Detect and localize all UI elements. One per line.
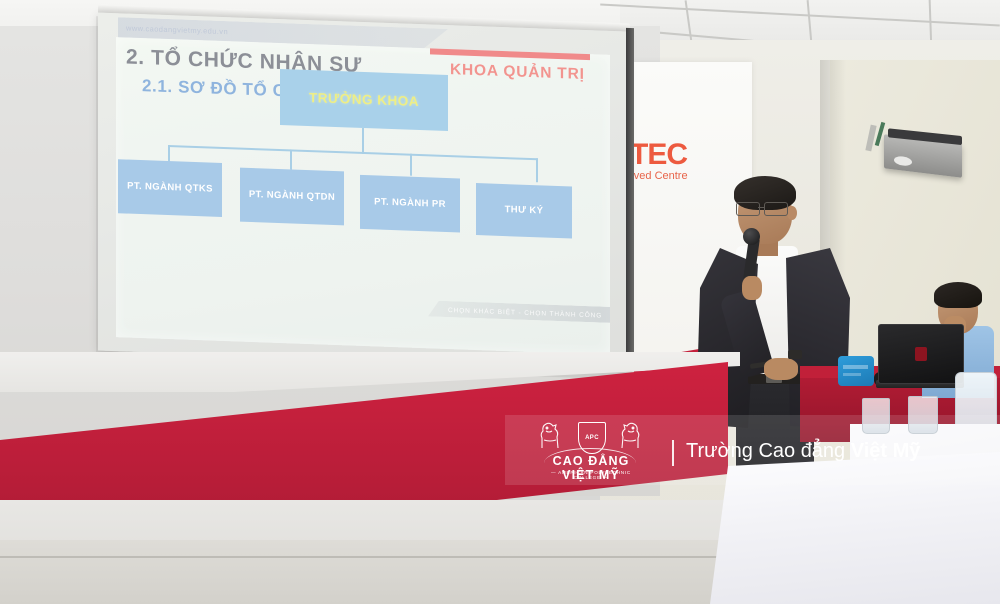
photo-scene: TEC roved Centre www.caodangvietmy.edu.v…: [0, 0, 1000, 604]
org-node-child: PT. NGÀNH QTKS: [118, 159, 222, 217]
watermark-divider: [672, 440, 674, 466]
org-connector-drop-2: [290, 149, 292, 169]
laptop-logo: [915, 347, 927, 361]
eyeglasses-icon: [736, 202, 792, 214]
org-node-child: THƯ KÝ: [476, 183, 572, 238]
org-connector-drop-3: [410, 154, 412, 176]
projection-screen: www.caodangvietmy.edu.vn KHOA QUẢN TRỊ 2…: [98, 13, 628, 370]
projector-lens: [894, 155, 912, 166]
org-node-root: TRƯỞNG KHOA: [280, 69, 448, 131]
laptop: [878, 324, 964, 384]
org-connector-horizontal: [168, 145, 538, 160]
screen-right-edge: [626, 28, 634, 368]
presenter-hand-lower: [764, 358, 798, 380]
microphone-head: [743, 228, 760, 245]
logo-subtitle: — AMERICAN POLYTECHNIC COLLEGE —: [538, 470, 644, 480]
college-logo: APC CAO ĐẲNG VIỆT MỸ — AMERICAN POLYTECH…: [530, 418, 650, 480]
slide: www.caodangvietmy.edu.vn KHOA QUẢN TRỊ 2…: [98, 13, 628, 370]
lion-left-icon: [536, 420, 564, 450]
shield-text: APC: [585, 435, 599, 441]
watermark-caption-prefix: Trường Cao đẳng: [686, 440, 851, 462]
seated-person-hair: [934, 282, 982, 308]
banner-logo-text: TEC: [630, 138, 687, 172]
watermark-caption: Trường Cao đẳng Việt Mỹ: [686, 440, 920, 463]
blue-equipment-bag: [838, 356, 874, 386]
org-node-child: PT. NGÀNH PR: [360, 175, 460, 233]
floor-edge-line: [0, 556, 760, 558]
wristwatch: [788, 350, 802, 359]
org-connector-drop-4: [536, 158, 538, 182]
lion-right-icon: [616, 420, 644, 450]
presenter-hand: [742, 276, 762, 300]
org-connector-vertical-root: [362, 128, 364, 154]
watermark-caption-bold: Việt Mỹ: [851, 440, 921, 462]
org-node-child: PT. NGÀNH QTDN: [240, 168, 344, 226]
